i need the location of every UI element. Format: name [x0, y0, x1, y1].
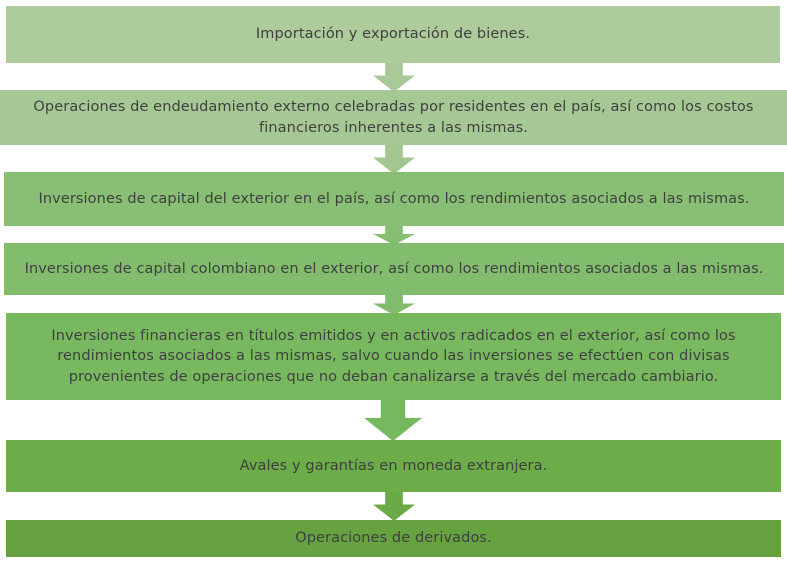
flow-node-1: Importación y exportación de bienes.: [6, 6, 780, 63]
flow-node-5: Inversiones financieras en títulos emiti…: [6, 313, 781, 400]
flow-node-label: Operaciones de derivados.: [14, 528, 773, 549]
flow-node-label: Inversiones de capital colombiano en el …: [12, 259, 776, 280]
flow-node-label: Operaciones de endeudamiento externo cel…: [8, 97, 779, 138]
flow-node-3: Inversiones de capital del exterior en e…: [4, 172, 784, 226]
flow-node-label: Importación y exportación de bienes.: [14, 24, 772, 45]
connector-arrow-down-icon: [364, 399, 422, 441]
flow-node-4: Inversiones de capital colombiano en el …: [4, 243, 784, 295]
connector-arrow-down-icon: [373, 491, 415, 521]
flow-node-label: Inversiones financieras en títulos emiti…: [14, 326, 773, 388]
flow-node-7: Operaciones de derivados.: [6, 520, 781, 557]
flow-node-label: Avales y garantías en moneda extranjera.: [14, 456, 773, 477]
flowchart-canvas: Importación y exportación de bienes.Oper…: [0, 0, 787, 561]
connector-arrow-down-icon: [373, 294, 415, 315]
flow-node-label: Inversiones de capital del exterior en e…: [12, 189, 776, 210]
connector-arrow-down-icon: [373, 62, 415, 92]
flow-node-2: Operaciones de endeudamiento externo cel…: [0, 90, 787, 145]
connector-arrow-down-icon: [373, 225, 415, 245]
flow-node-6: Avales y garantías en moneda extranjera.: [6, 440, 781, 492]
connector-arrow-down-icon: [373, 144, 415, 174]
